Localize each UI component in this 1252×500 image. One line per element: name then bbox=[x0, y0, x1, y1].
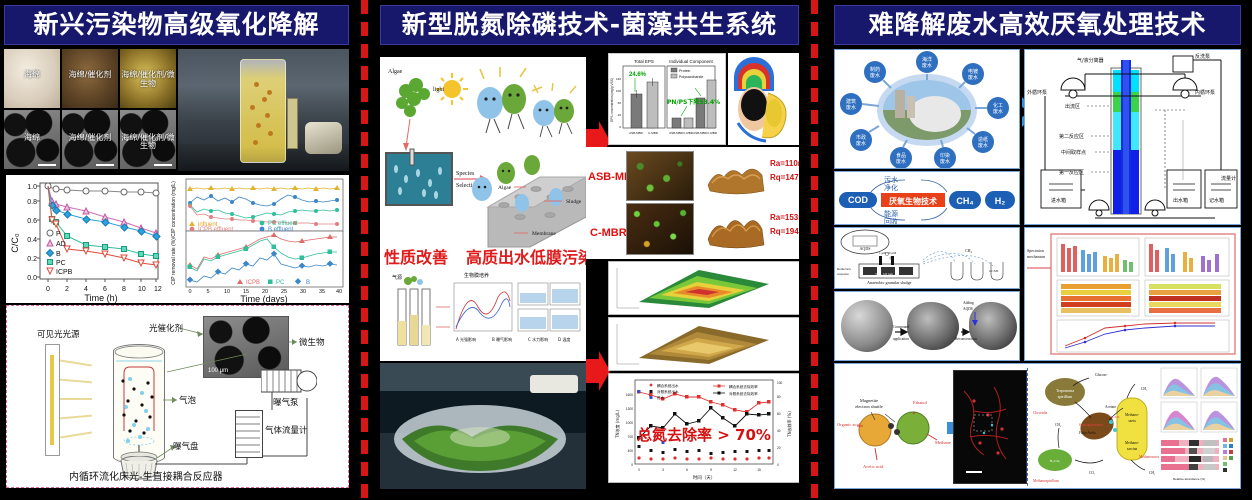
svg-text:Compound: Compound bbox=[893, 325, 909, 329]
svg-text:sarcina: sarcina bbox=[1127, 447, 1138, 451]
svg-text:4: 4 bbox=[84, 286, 88, 293]
svg-text:B 曝气影响: B 曝气影响 bbox=[492, 336, 512, 342]
material-tiles: 海绵 海绵/催化剂 海绵/催化剂/微生物 海绵 海绵/催化剂 海绵/催化剂/ bbox=[4, 49, 176, 171]
panel-3: 难降解废水高效厌氧处理技术 bbox=[826, 0, 1245, 500]
svg-text:5: 5 bbox=[206, 289, 209, 295]
svg-text:12: 12 bbox=[154, 286, 162, 293]
chart-tn-svg: 耦合系统出水 对照系统出水 进水 耦合系统去除效率 对照系统去除效率 0400 … bbox=[609, 374, 799, 482]
tile-caption: 海绵/催化剂/微生物 bbox=[120, 71, 176, 88]
svg-text:ASB-MBR: ASB-MBR bbox=[693, 131, 708, 135]
tile-sponge-sem: 海绵 bbox=[4, 110, 60, 169]
svg-text:saeta: saeta bbox=[1128, 419, 1136, 423]
poster-root: 新兴污染物高级氧化降解 海绵 海绵/催化剂 海绵/催化剂/微生物 海绵 海绵 bbox=[0, 0, 1252, 500]
svg-text:Speciation: Speciation bbox=[1027, 248, 1044, 253]
svg-text:制药: 制药 bbox=[870, 66, 880, 73]
svg-text:C/C₀: C/C₀ bbox=[10, 233, 20, 252]
svg-text:response: response bbox=[837, 272, 849, 276]
svg-text:Magnetite: Magnetite bbox=[860, 398, 878, 403]
svg-text:24.6%: 24.6% bbox=[629, 72, 647, 78]
svg-text:light: light bbox=[433, 87, 444, 93]
speciation-mechanism-panel: Speciation mechanism bbox=[1024, 227, 1241, 361]
svg-text:1000: 1000 bbox=[626, 421, 633, 425]
svg-text:生物膜培养: 生物膜培养 bbox=[464, 272, 489, 279]
svg-text:1300: 1300 bbox=[626, 407, 633, 411]
svg-text:记水箱: 记水箱 bbox=[1209, 197, 1224, 204]
panel-1-body: 海绵 海绵/催化剂 海绵/催化剂/微生物 海绵 海绵/催化剂 海绵/催化剂/ bbox=[4, 49, 349, 496]
anaerobic-energy-flow: 污水 净化 能源 回收 COD 厌氧生物技术 CH₄ H₂ bbox=[834, 171, 1020, 225]
svg-text:AD: AD bbox=[56, 241, 66, 248]
svg-text:CH₄: CH₄ bbox=[1141, 387, 1148, 391]
svg-text:12: 12 bbox=[733, 468, 737, 472]
svg-text:ASB-MBR: ASB-MBR bbox=[629, 131, 644, 135]
svg-text:回收: 回收 bbox=[884, 217, 898, 224]
svg-text:0: 0 bbox=[638, 468, 640, 472]
tile-caption: 海绵 bbox=[4, 71, 60, 79]
svg-text:Methanospirillum: Methanospirillum bbox=[1033, 479, 1059, 483]
sem-scale-bar bbox=[154, 164, 172, 166]
chart-eps-bar: Total EPS Individual Component Protein bbox=[608, 53, 726, 145]
svg-text:0: 0 bbox=[631, 463, 633, 467]
label-photocatalyst: 光催化剂 bbox=[149, 322, 183, 334]
surface-plot-2 bbox=[608, 317, 799, 371]
svg-text:废水: 废水 bbox=[940, 158, 950, 165]
chart-longterm: influent ICPB effluent PC effluent B eff… bbox=[166, 175, 349, 303]
svg-text:反洗泵: 反洗泵 bbox=[1195, 53, 1210, 60]
panel-2-body: Algae Species Selection bbox=[380, 49, 799, 496]
svg-text:CIP removal rate (%)/CIP conce: CIP removal rate (%)/CIP concentration (… bbox=[171, 181, 177, 285]
svg-text:ASB-MBR: ASB-MBR bbox=[669, 131, 684, 135]
svg-text:EPS concentration (mg/g VSS): EPS concentration (mg/g VSS) bbox=[610, 78, 614, 122]
panel-2-title: 新型脱氮除磷技术-菌藻共生系统 bbox=[380, 5, 799, 45]
svg-text:Methano-: Methano- bbox=[1125, 413, 1140, 417]
svg-text:Methane: Methane bbox=[935, 440, 951, 445]
svg-text:废水: 废水 bbox=[870, 72, 880, 79]
svg-text:性质改善: 性质改善 bbox=[384, 248, 448, 267]
svg-text:耦合系统出水: 耦合系统出水 bbox=[657, 383, 679, 388]
svg-text:Individual Component: Individual Component bbox=[669, 59, 713, 64]
svg-text:1 μM 20 μM: 1 μM 20 μM bbox=[879, 251, 896, 255]
svg-text:AQDS: AQDS bbox=[963, 307, 973, 311]
svg-text:Total EPS: Total EPS bbox=[634, 59, 654, 64]
svg-text:GC/MS: GC/MS bbox=[989, 269, 999, 273]
tile-sponge-catalyst-photo: 海绵/催化剂 bbox=[62, 49, 118, 108]
svg-text:H₂/CO₂: H₂/CO₂ bbox=[1050, 459, 1060, 463]
tile-caption: 海绵/催化剂 bbox=[62, 134, 118, 142]
svg-text:0: 0 bbox=[46, 286, 50, 293]
tile-sponge-catalyst-sem: 海绵/催化剂 bbox=[62, 110, 118, 169]
membrane-colorful-image bbox=[728, 53, 799, 145]
svg-text:电镀: 电镀 bbox=[968, 68, 978, 75]
svg-text:0.6: 0.6 bbox=[27, 218, 37, 225]
label-bubble: 气泡 bbox=[179, 394, 196, 406]
afm-image-c bbox=[702, 203, 770, 253]
svg-text:PC: PC bbox=[276, 280, 285, 286]
svg-text:2: 2 bbox=[65, 286, 69, 293]
svg-text:Reconstruction: Reconstruction bbox=[955, 337, 977, 341]
svg-text:海洋: 海洋 bbox=[922, 56, 932, 63]
svg-text:ICPB: ICPB bbox=[246, 280, 260, 286]
svg-text:35: 35 bbox=[319, 289, 325, 295]
svg-text:废水: 废水 bbox=[922, 62, 932, 69]
gas-flow-meter bbox=[235, 410, 263, 458]
svg-text:出水箱: 出水箱 bbox=[1173, 197, 1188, 204]
svg-text:CH₄: CH₄ bbox=[956, 196, 973, 206]
panel-3-title: 难降解废水高效厌氧处理技术 bbox=[834, 5, 1241, 45]
svg-text:第一反应区: 第一反应区 bbox=[1059, 169, 1084, 176]
svg-text:食品: 食品 bbox=[896, 152, 906, 159]
svg-text:B: B bbox=[56, 251, 61, 258]
label-asb-ra: Ra=110nm bbox=[770, 159, 799, 168]
svg-text:application: application bbox=[893, 337, 909, 341]
svg-text:外循环泵: 外循环泵 bbox=[1027, 89, 1047, 96]
svg-text:COD: COD bbox=[848, 195, 869, 205]
svg-text:0: 0 bbox=[188, 289, 191, 295]
svg-text:8: 8 bbox=[122, 286, 126, 293]
community-structure-plots: Relative abundance (%) bbox=[1159, 366, 1239, 486]
svg-text:能源: 能源 bbox=[884, 209, 898, 218]
svg-text:废水: 废水 bbox=[896, 158, 906, 165]
svg-text:P: P bbox=[56, 231, 61, 238]
svg-text:废水: 废水 bbox=[846, 104, 856, 111]
svg-text:PN/PS下降53.4%: PN/PS下降53.4% bbox=[667, 98, 720, 106]
panel-2: 新型脱氮除磷技术-菌藻共生系统 Algae bbox=[376, 0, 803, 500]
svg-text:Membrane: Membrane bbox=[532, 231, 556, 237]
svg-text:Clostridia: Clostridia bbox=[1033, 411, 1048, 415]
svg-text:D 温度: D 温度 bbox=[558, 336, 570, 342]
svg-text:CH₄: CH₄ bbox=[1055, 423, 1062, 427]
svg-text:Treponema: Treponema bbox=[1056, 388, 1074, 393]
svg-text:化工: 化工 bbox=[993, 102, 1003, 109]
schematic-caption: 内循环流化床光-生直接耦合反应器 bbox=[69, 468, 223, 483]
svg-text:C-MBR: C-MBR bbox=[648, 131, 659, 135]
panel-separator-1 bbox=[353, 0, 376, 500]
svg-text:CH₄: CH₄ bbox=[965, 248, 973, 253]
rotameter-photo bbox=[287, 98, 298, 149]
tile-sponge-catalyst-microbe-photo: 海绵/催化剂/微生物 bbox=[120, 49, 176, 108]
svg-text:Time (days): Time (days) bbox=[240, 294, 287, 303]
svg-text:Polysaccharide: Polysaccharide bbox=[679, 75, 703, 79]
tile-caption: 海绵/催化剂/微生物 bbox=[120, 134, 176, 151]
granule-reconstruction-sequence: Compoundapplication Reconstruction Addin… bbox=[834, 291, 1020, 361]
svg-text:electron shuttle: electron shuttle bbox=[855, 404, 883, 409]
tile-sponge-catalyst-microbe-sem: 海绵/催化剂/微生物 bbox=[120, 110, 176, 169]
svg-text:建筑: 建筑 bbox=[846, 98, 856, 105]
svg-text:spirillum: spirillum bbox=[1058, 394, 1073, 399]
svg-text:1.0: 1.0 bbox=[27, 184, 37, 191]
clsm-image-asb bbox=[626, 151, 694, 201]
svg-text:Syntrophomonas: Syntrophomonas bbox=[1079, 423, 1104, 427]
svg-text:40: 40 bbox=[336, 289, 342, 295]
svg-text:0.8: 0.8 bbox=[27, 199, 37, 206]
svg-text:进水: 进水 bbox=[657, 395, 665, 400]
svg-text:Algae: Algae bbox=[498, 185, 512, 191]
chart-eps-svg: Total EPS Individual Component Protein bbox=[609, 54, 725, 144]
sources-wheel-svg: 海洋废水 电镀废水 化工废水 造纸废水 印染废水 食品废水 市政废水 建筑废水 … bbox=[835, 50, 1019, 168]
svg-text:20: 20 bbox=[777, 446, 781, 450]
svg-text:3: 3 bbox=[662, 468, 664, 472]
svg-text:Reduction: Reduction bbox=[837, 267, 851, 271]
svg-text:100: 100 bbox=[616, 89, 621, 93]
svg-text:TN去除率 (%): TN去除率 (%) bbox=[786, 411, 792, 438]
svg-text:Methano-: Methano- bbox=[1125, 441, 1140, 445]
svg-text:高质出水低膜污染: 高质出水低膜污染 bbox=[466, 248, 586, 267]
svg-text:时间（天）: 时间（天） bbox=[693, 474, 716, 481]
svg-text:Relative abundance (%): Relative abundance (%) bbox=[1173, 477, 1205, 481]
svg-text:造纸: 造纸 bbox=[978, 136, 988, 143]
svg-text:废水: 废水 bbox=[978, 142, 988, 149]
svg-text:700: 700 bbox=[628, 435, 634, 439]
svg-text:市政: 市政 bbox=[856, 134, 866, 141]
icpb-reactor-schematic: 可见光光源 bbox=[6, 305, 349, 488]
svg-text:ICPB: ICPB bbox=[56, 269, 73, 276]
svg-text:B: B bbox=[306, 280, 310, 286]
svg-text:C-MBR: C-MBR bbox=[683, 131, 694, 135]
metabolic-pathway-diagram: Treponema spirillum Syntrophomonas Metha… bbox=[1031, 364, 1161, 488]
symbiosis-svg: Algae Species Selection bbox=[380, 57, 586, 269]
svg-text:C-MBR: C-MBR bbox=[707, 131, 718, 135]
chart-degradation: 0.0 0.2 0.4 0.6 0.8 1.0 024 681012 bbox=[6, 175, 166, 303]
svg-text:40: 40 bbox=[777, 429, 781, 433]
svg-text:mechanism: mechanism bbox=[1027, 254, 1046, 259]
svg-text:Anaerobic granular sludge: Anaerobic granular sludge bbox=[867, 280, 912, 285]
svg-text:Acetic acid: Acetic acid bbox=[863, 464, 884, 469]
svg-text:60: 60 bbox=[777, 412, 781, 416]
algae-reactor-photo bbox=[380, 363, 586, 489]
svg-text:废水: 废水 bbox=[993, 108, 1003, 115]
tile-sponge-photo: 海绵 bbox=[4, 49, 60, 108]
svg-text:Sludge: Sludge bbox=[566, 199, 582, 205]
svg-text:Glucose: Glucose bbox=[1095, 373, 1107, 377]
label-c-ra: Ra=153nm bbox=[770, 213, 799, 222]
row-divider bbox=[1027, 368, 1028, 486]
tile-caption: 海绵/催化剂 bbox=[62, 71, 118, 79]
svg-text:废水: 废水 bbox=[856, 140, 866, 147]
aeration-pump bbox=[261, 368, 317, 394]
svg-text:中间取样点: 中间取样点 bbox=[1061, 149, 1086, 156]
svg-text:0.2: 0.2 bbox=[27, 256, 37, 263]
svg-text:Species: Species bbox=[456, 171, 475, 177]
algae-bacteria-symbiosis-diagram: Algae Species Selection bbox=[380, 57, 586, 269]
svg-text:0.0: 0.0 bbox=[27, 275, 37, 282]
svg-text:PC: PC bbox=[56, 260, 66, 267]
chart-degradation-svg: 0.0 0.2 0.4 0.6 0.8 1.0 024 681012 bbox=[6, 175, 166, 303]
svg-text:耦合系统去除效率: 耦合系统去除效率 bbox=[729, 384, 758, 389]
ic-reactor-svg: 气/液分离器 外循环泵 内循环泵 反洗泵 出流区 第二反应区 中间取样点 第一反… bbox=[1025, 50, 1240, 224]
svg-text:流量计: 流量计 bbox=[1221, 175, 1236, 182]
label-microbe: 微生物 bbox=[299, 336, 325, 348]
svg-text:废水: 废水 bbox=[968, 74, 978, 81]
svg-text:厌氧生物技术: 厌氧生物技术 bbox=[889, 196, 937, 206]
svg-text:60: 60 bbox=[618, 101, 622, 105]
ic-reactor-schematic: 气/液分离器 外循环泵 内循环泵 反洗泵 出流区 第二反应区 中间取样点 第一反… bbox=[1024, 49, 1241, 225]
svg-text:400: 400 bbox=[628, 449, 634, 453]
svg-text:气源: 气源 bbox=[392, 274, 402, 281]
wastewater-sources-wheel: 海洋废水 电镀废水 化工废水 造纸废水 印染废水 食品废水 市政废水 建筑废水 … bbox=[834, 49, 1020, 169]
chart-tn-removal: 耦合系统出水 对照系统出水 进水 耦合系统去除效率 对照系统去除效率 0400 … bbox=[608, 373, 799, 483]
svg-text:0.4: 0.4 bbox=[27, 237, 37, 244]
svg-text:CO₂: CO₂ bbox=[1089, 471, 1096, 475]
svg-text:出流区: 出流区 bbox=[1065, 103, 1080, 110]
svg-text:CH₄: CH₄ bbox=[1149, 471, 1156, 475]
afm-image-asb bbox=[702, 151, 770, 199]
svg-text:80: 80 bbox=[777, 395, 781, 399]
svg-text:6: 6 bbox=[686, 468, 688, 472]
svg-text:30: 30 bbox=[300, 289, 306, 295]
panel-1-title: 新兴污染物高级氧化降解 bbox=[4, 5, 349, 45]
svg-text:Methanosarcina: Methanosarcina bbox=[1139, 455, 1161, 459]
svg-text:印染: 印染 bbox=[940, 152, 950, 159]
svg-text:B effluent: B effluent bbox=[268, 227, 294, 233]
red-arrow-bottom bbox=[586, 349, 610, 393]
svg-text:6: 6 bbox=[103, 286, 107, 293]
svg-text:C 水力影响: C 水力影响 bbox=[528, 336, 548, 342]
sem-scale-bar bbox=[96, 164, 114, 166]
svg-text:AQDS: AQDS bbox=[860, 246, 871, 251]
label-c-mbr: C-MBR bbox=[590, 227, 627, 239]
svg-text:H₂: H₂ bbox=[995, 196, 1006, 206]
svg-text:Time (h): Time (h) bbox=[84, 293, 117, 303]
clsm-image-c bbox=[626, 203, 694, 255]
panel-1: 新兴污染物高级氧化降解 海绵 海绵/催化剂 海绵/催化剂/微生物 海绵 海绵 bbox=[0, 0, 353, 500]
svg-text:气/液分离器: 气/液分离器 bbox=[1077, 57, 1104, 64]
svg-text:对照系统出水: 对照系统出水 bbox=[657, 389, 679, 394]
svg-text:A 光强影响: A 光强影响 bbox=[456, 336, 476, 342]
svg-text:ICPB effluent: ICPB effluent bbox=[198, 227, 234, 233]
pbr-process-diagram: 气源生物膜培养 bbox=[380, 267, 586, 361]
svg-text:内循环泵: 内循环泵 bbox=[1195, 89, 1215, 96]
svg-text:Ethanol: Ethanol bbox=[913, 400, 928, 405]
clsm-fluorescence-image bbox=[953, 370, 1027, 484]
svg-text:Adding: Adding bbox=[963, 301, 974, 305]
label-c-rq: Rq=194nm bbox=[770, 227, 799, 236]
svg-text:TN浓度 (mg/L): TN浓度 (mg/L) bbox=[614, 410, 620, 439]
svg-text:Protein: Protein bbox=[679, 69, 690, 73]
chart-longterm-svg: influent ICPB effluent PC effluent B eff… bbox=[166, 175, 349, 303]
svg-text:Fatty Acids: Fatty Acids bbox=[1079, 431, 1096, 435]
svg-text:9: 9 bbox=[710, 468, 712, 472]
svg-text:第二反应区: 第二反应区 bbox=[1059, 133, 1084, 140]
svg-text:140: 140 bbox=[616, 77, 621, 81]
svg-text:1600: 1600 bbox=[626, 393, 633, 397]
label-aeration-pump: 曝气泵 bbox=[273, 396, 299, 408]
svg-text:Acetate: Acetate bbox=[1105, 405, 1116, 409]
svg-text:15: 15 bbox=[757, 468, 761, 472]
air-pump-photo bbox=[305, 122, 343, 154]
granular-sludge-experiment: AQDS 1 μM 20 μM Reduction response Anaer… bbox=[834, 227, 1020, 289]
panel-3-body: 海洋废水 电镀废水 化工废水 造纸废水 印染废水 食品废水 市政废水 建筑废水 … bbox=[830, 49, 1241, 496]
label-aeration-disc: 曝气盘 bbox=[173, 440, 199, 452]
fluidized-bed-column-photo bbox=[240, 59, 286, 163]
label-asb-rq: Rq=147nm bbox=[770, 173, 799, 182]
reactor-lab-photo bbox=[178, 49, 349, 171]
svg-text:进水箱: 进水箱 bbox=[1051, 197, 1066, 204]
svg-text:对照系统去除效率: 对照系统去除效率 bbox=[729, 391, 758, 396]
label-gas-flow-meter: 气体流量计 bbox=[265, 424, 308, 436]
panel-separator-2 bbox=[803, 0, 826, 500]
svg-text:0: 0 bbox=[777, 463, 779, 467]
svg-text:总氮去除率 > 70%: 总氮去除率 > 70% bbox=[637, 426, 771, 444]
svg-text:100: 100 bbox=[777, 381, 783, 385]
schematic-canvas: 可见光光源 bbox=[7, 306, 348, 487]
sem-scale-bar bbox=[38, 164, 56, 166]
svg-text:20: 20 bbox=[618, 113, 622, 117]
svg-text:10: 10 bbox=[138, 286, 146, 293]
surface-plot-1 bbox=[608, 261, 799, 315]
svg-text:净化: 净化 bbox=[884, 183, 898, 192]
membrane-fouling-comparison: ASB-MBR C-MBR bbox=[586, 147, 799, 259]
svg-text:H₂/CO₂: H₂/CO₂ bbox=[1111, 415, 1120, 419]
anaerobic-mechanism-row: Magnetite electron shuttle Organic acid … bbox=[834, 363, 1241, 489]
svg-text:Algae: Algae bbox=[388, 69, 403, 75]
svg-text:10: 10 bbox=[224, 289, 230, 295]
tile-caption: 海绵 bbox=[4, 134, 60, 142]
